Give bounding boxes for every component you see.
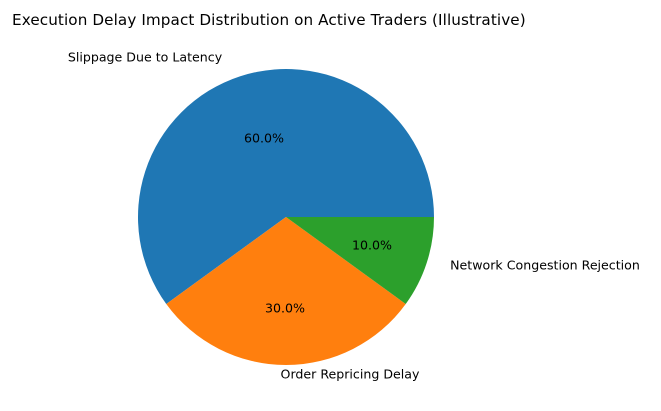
pie-percent-slippage-due-to-latency: 60.0% [244,131,284,146]
pie-percent-order-repricing-delay: 30.0% [265,301,305,316]
pie-percent-network-congestion-rejection: 10.0% [352,238,392,253]
pie-label-network-congestion-rejection: Network Congestion Rejection [450,258,640,273]
pie-chart-figure: Execution Delay Impact Distribution on A… [0,0,661,411]
pie-label-order-repricing-delay: Order Repricing Delay [281,367,420,382]
pie-label-slippage-due-to-latency: Slippage Due to Latency [68,50,222,65]
